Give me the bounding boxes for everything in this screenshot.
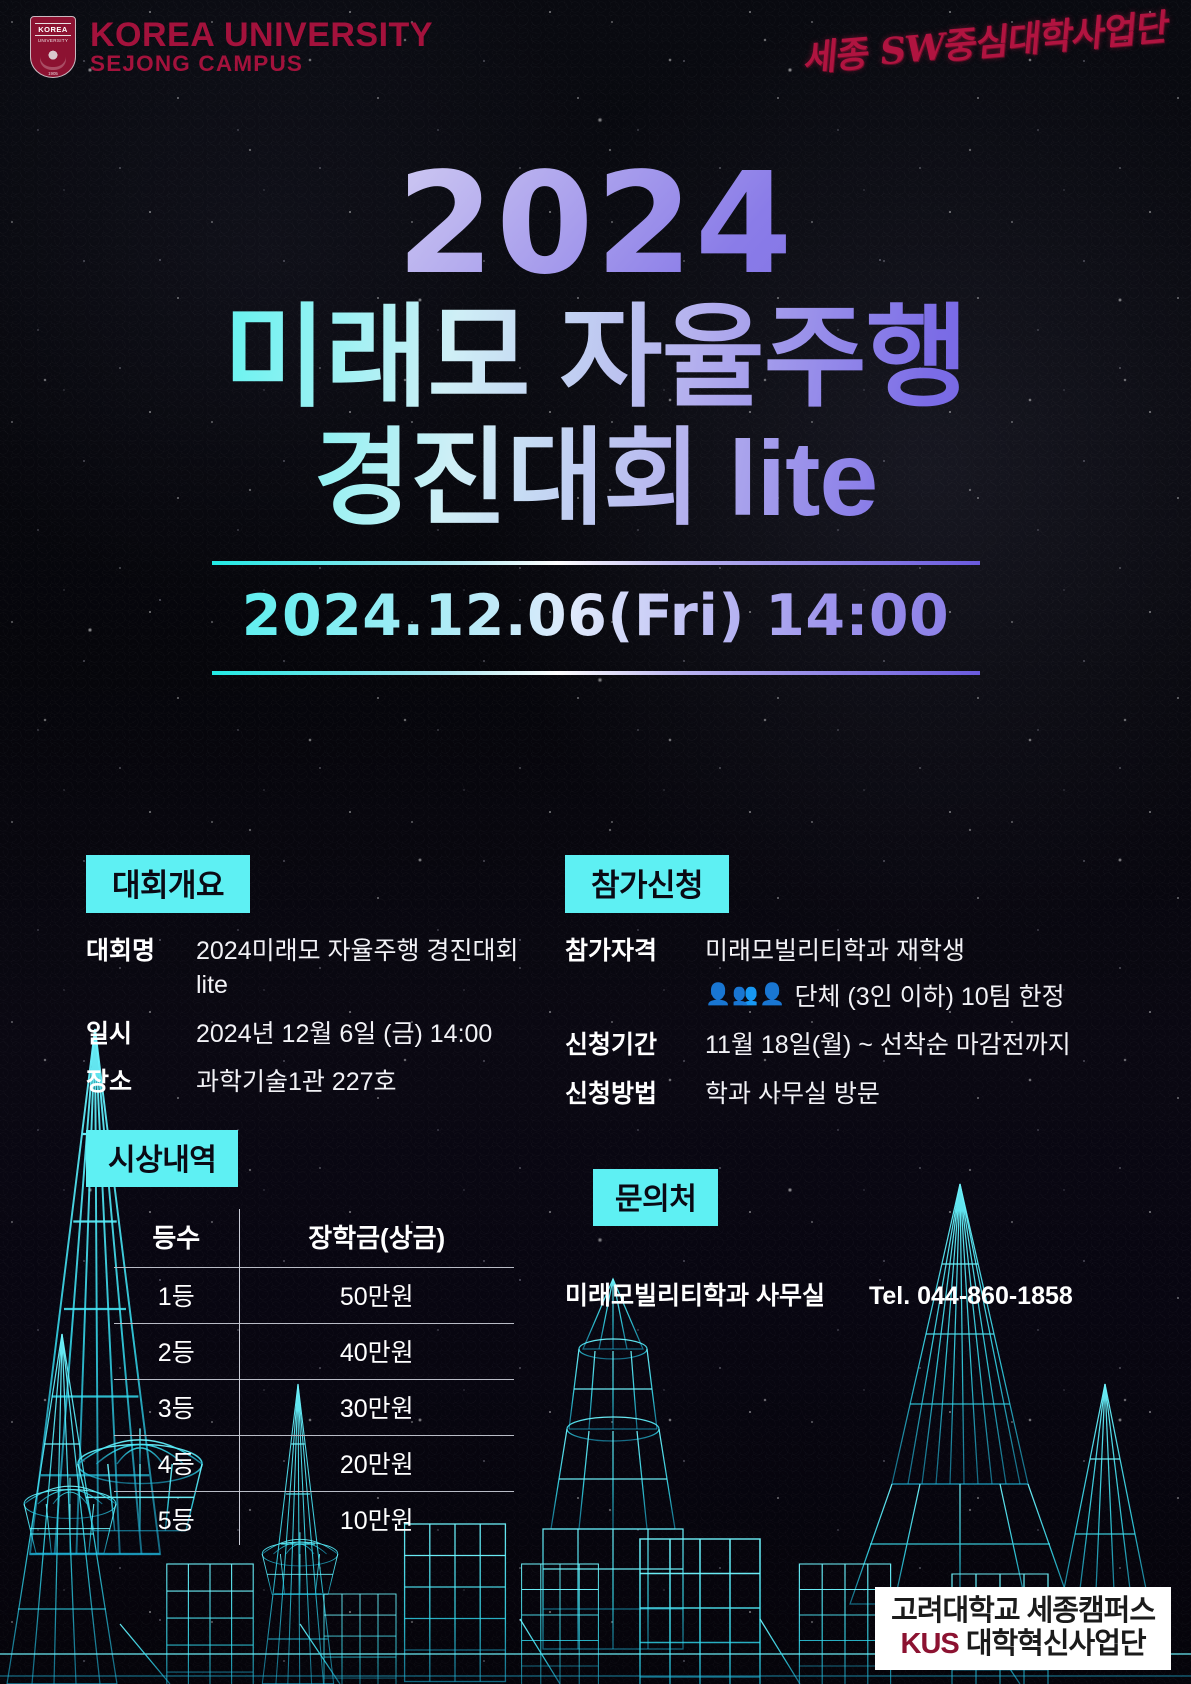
application-row-eligibility: 참가자격 미래모빌리티학과 재학생 👤👥👤 단체 (3인 이하) 10팀 한정 <box>565 935 1125 1013</box>
section-badge-application: 참가신청 <box>565 855 729 913</box>
application-key-period: 신청기간 <box>565 1029 689 1063</box>
kus-logo-line1: 고려대학교 세종캠퍼스 <box>891 1595 1155 1627</box>
overview-value-venue: 과학기술1관 227호 <box>196 1066 397 1100</box>
prize-amount: 40만원 <box>239 1324 514 1380</box>
people-group-icon: 👤👥👤 <box>705 983 786 1007</box>
application-row-period: 신청기간 11월 18일(월) ~ 선착순 마감전까지 <box>565 1029 1125 1063</box>
prize-header-rank: 등수 <box>114 1209 239 1268</box>
kus-logo-mark: KUS <box>901 1628 959 1660</box>
title-year: 2024 <box>0 155 1191 295</box>
title-line-1: 미래모 자율주행 <box>0 295 1191 420</box>
title-line-2: 경진대회 lite <box>0 420 1191 539</box>
left-column: 대회개요 대회명 2024미래모 자율주행 경진대회 lite 일시 2024년… <box>86 855 556 1545</box>
poster-header: KOREA UNIVERSITY 1905 KOREA UNIVERSITY S… <box>0 0 1191 100</box>
prize-rank: 2등 <box>114 1324 239 1380</box>
overview-value-datetime: 2024년 12월 6일 (금) 14:00 <box>196 1018 492 1052</box>
right-column: 참가신청 참가자격 미래모빌리티학과 재학생 👤👥👤 단체 (3인 이하) 10… <box>565 855 1125 1312</box>
prize-amount: 50만원 <box>239 1268 514 1324</box>
prize-table-header-row: 등수 장학금(상금) <box>114 1209 514 1268</box>
tiger-icon <box>40 46 66 70</box>
section-badge-awards: 시상내역 <box>86 1130 238 1187</box>
prize-rank: 1등 <box>114 1268 239 1324</box>
awards-section: 시상내역 등수 장학금(상금) 1등 50만원 <box>86 1130 556 1545</box>
contact-phone[interactable]: Tel. 044-860-1858 <box>869 1282 1073 1311</box>
shield-sub-text: UNIVERSITY <box>38 37 69 44</box>
shield-top-text: KOREA <box>38 25 68 34</box>
overview-value-name: 2024미래모 자율주행 경진대회 lite <box>196 935 556 1003</box>
overview-row-venue: 장소 과학기술1관 227호 <box>86 1066 556 1100</box>
contact-office: 미래모빌리티학과 사무실 <box>565 1276 825 1312</box>
prize-rank: 3등 <box>114 1380 239 1436</box>
application-key-method: 신청방법 <box>565 1078 689 1112</box>
table-row: 5등 10만원 <box>114 1492 514 1546</box>
poster-title-block: 2024 미래모 자율주행 경진대회 lite 2024.12.06(Fri) … <box>0 155 1191 675</box>
poster-canvas: KOREA UNIVERSITY 1905 KOREA UNIVERSITY S… <box>0 0 1191 1684</box>
university-name-line2: SEJONG CAMPUS <box>90 53 433 76</box>
prize-amount: 30만원 <box>239 1380 514 1436</box>
kus-footer-logo: 고려대학교 세종캠퍼스 KUS 대학혁신사업단 <box>875 1587 1171 1670</box>
team-limit-note: 👤👥👤 단체 (3인 이하) 10팀 한정 <box>705 977 1125 1013</box>
university-name-line1: KOREA UNIVERSITY <box>90 18 433 53</box>
section-badge-overview: 대회개요 <box>86 855 250 913</box>
korea-university-logo: KOREA UNIVERSITY 1905 KOREA UNIVERSITY S… <box>30 16 433 78</box>
overview-row-name: 대회명 2024미래모 자율주행 경진대회 lite <box>86 935 556 1003</box>
table-row: 3등 30만원 <box>114 1380 514 1436</box>
contact-details: 미래모빌리티학과 사무실 Tel. 044-860-1858 <box>565 1276 1125 1312</box>
kus-logo-line2: 대학혁신사업단 <box>959 1628 1146 1660</box>
prize-rank: 4등 <box>114 1436 239 1492</box>
table-row: 2등 40만원 <box>114 1324 514 1380</box>
application-value-eligibility: 미래모빌리티학과 재학생 <box>705 935 965 969</box>
university-shield-icon: KOREA UNIVERSITY 1905 <box>30 16 76 78</box>
shield-year: 1905 <box>48 71 58 76</box>
section-badge-contact: 문의처 <box>593 1169 718 1226</box>
prize-amount: 20만원 <box>239 1436 514 1492</box>
divider-top <box>212 561 980 565</box>
application-value-period: 11월 18일(월) ~ 선착순 마감전까지 <box>705 1029 1071 1063</box>
overview-key-name: 대회명 <box>86 935 182 969</box>
sw-program-logo: 세종 SW중심대학사업단 <box>802 0 1170 82</box>
application-value-method: 학과 사무실 방문 <box>705 1078 880 1112</box>
prize-table: 등수 장학금(상금) 1등 50만원 2등 40만원 <box>114 1209 514 1545</box>
prize-rank: 5등 <box>114 1492 239 1546</box>
overview-key-datetime: 일시 <box>86 1018 182 1052</box>
prize-header-amount: 장학금(상금) <box>239 1209 514 1268</box>
contact-section: 문의처 미래모빌리티학과 사무실 Tel. 044-860-1858 <box>565 1169 1125 1312</box>
divider-bottom <box>212 671 980 675</box>
overview-key-venue: 장소 <box>86 1066 182 1100</box>
prize-amount: 10만원 <box>239 1492 514 1546</box>
table-row: 4등 20만원 <box>114 1436 514 1492</box>
overview-row-datetime: 일시 2024년 12월 6일 (금) 14:00 <box>86 1018 556 1052</box>
application-row-method: 신청방법 학과 사무실 방문 <box>565 1078 1125 1112</box>
table-row: 1등 50만원 <box>114 1268 514 1324</box>
application-key-eligibility: 참가자격 <box>565 935 689 969</box>
event-datetime: 2024.12.06(Fri) 14:00 <box>0 583 1191 649</box>
team-limit-text: 단체 (3인 이하) 10팀 한정 <box>794 977 1064 1013</box>
